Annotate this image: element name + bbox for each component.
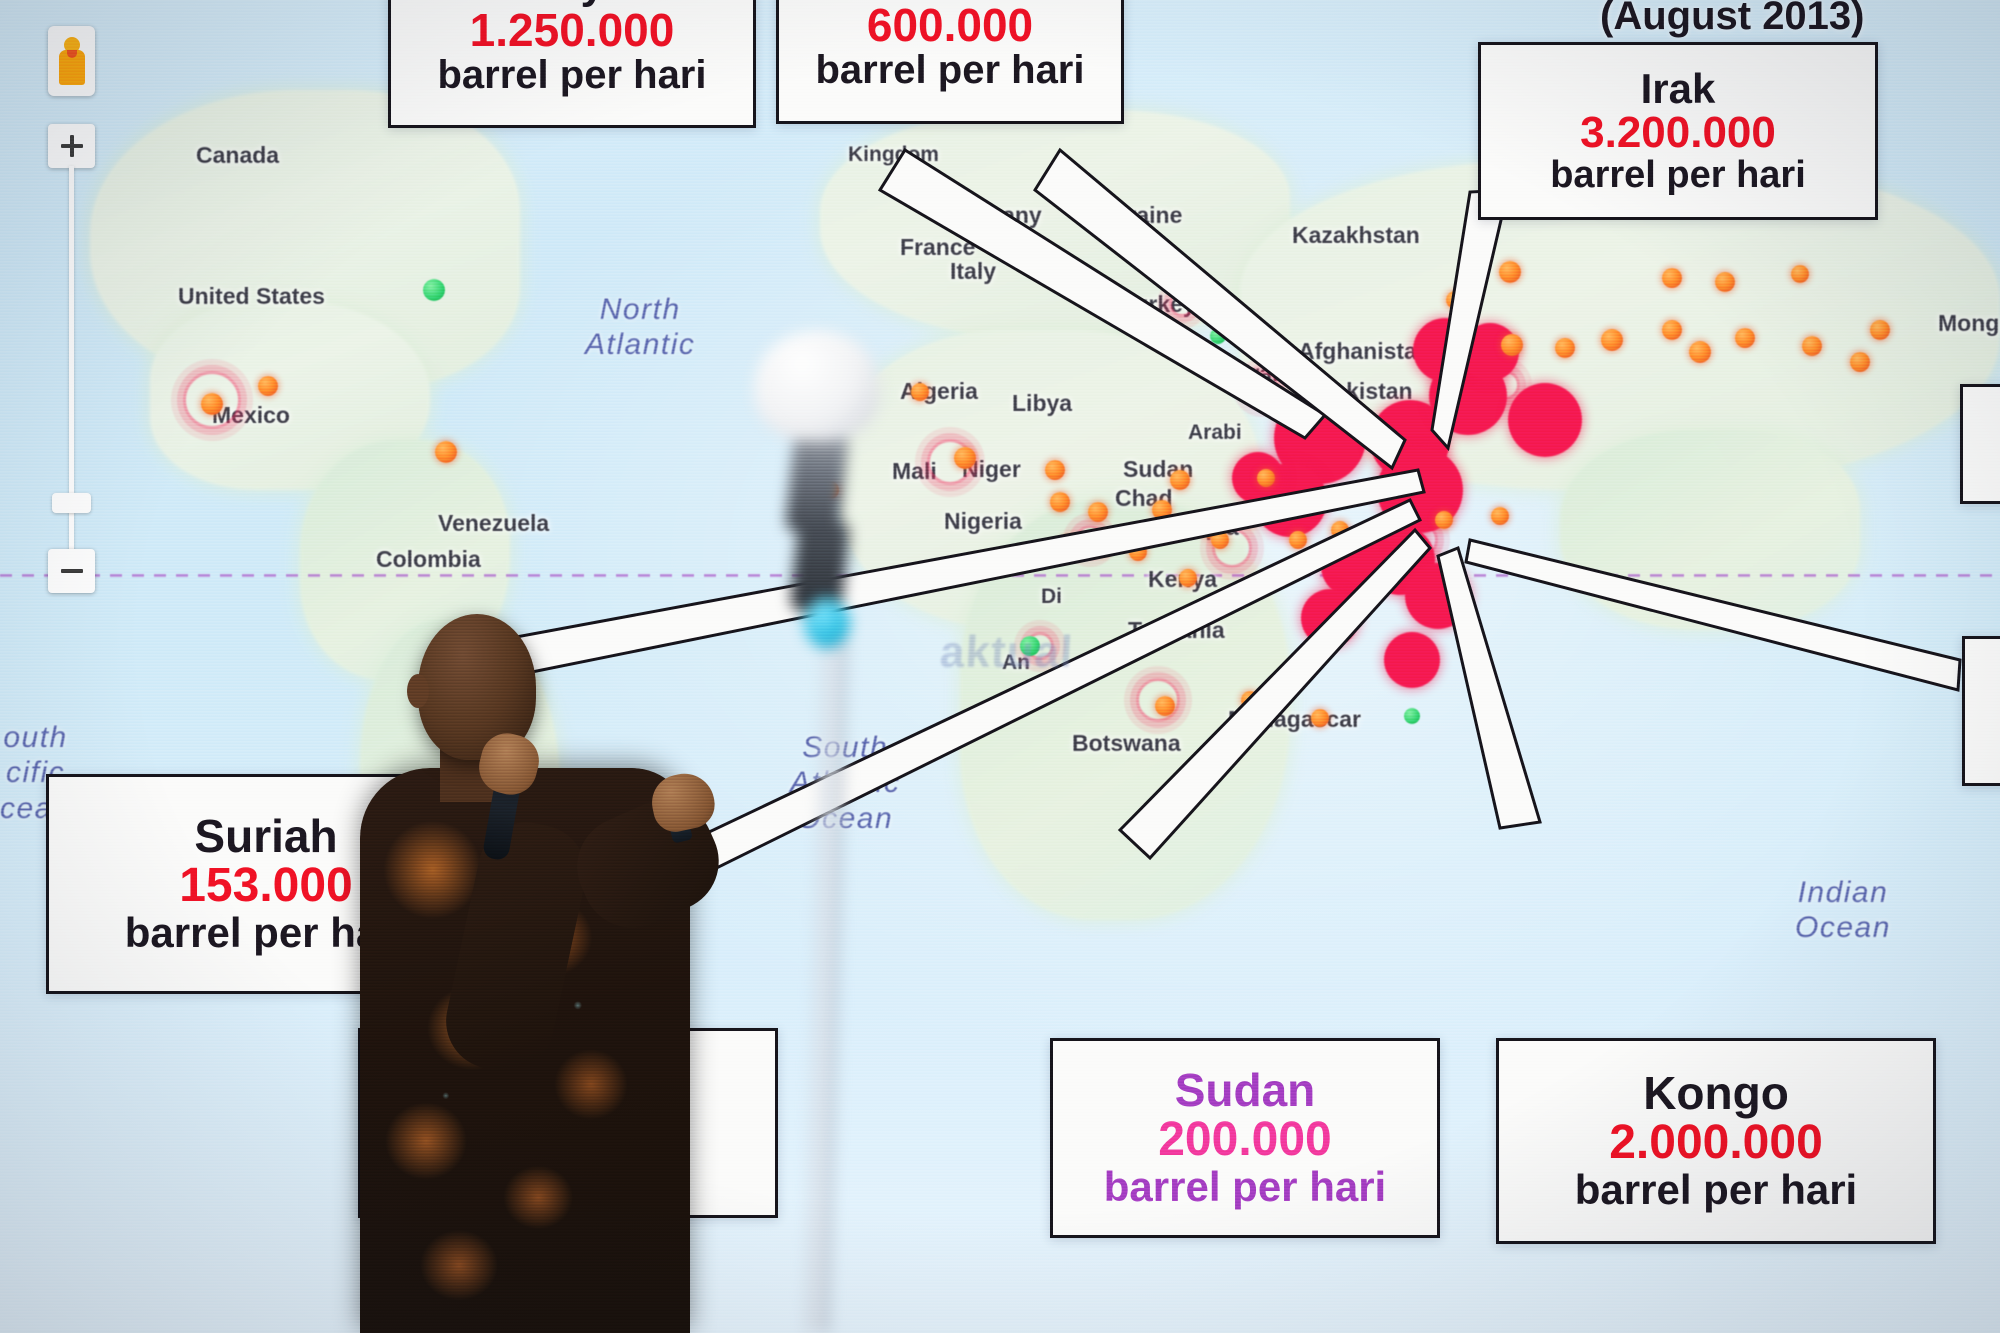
map-data-dot — [1152, 500, 1172, 520]
slide-title: (August 2013) — [1600, 0, 1865, 39]
map-data-dot — [1384, 632, 1440, 688]
map-data-dot — [435, 441, 457, 463]
map-label: United States — [178, 283, 325, 310]
watermark: aktual — [939, 628, 1075, 678]
callout-irak: Irak 3.200.000 barrel per hari — [1478, 42, 1878, 220]
map-data-dot — [1404, 708, 1420, 724]
callout-libya: Libya 1.250.000 barrel per hari — [388, 0, 756, 128]
map-data-dot — [258, 376, 278, 396]
map-label: France — [900, 234, 975, 261]
map-data-dot — [1170, 470, 1190, 490]
map-data-dot — [1210, 328, 1226, 344]
map-data-dot — [1405, 563, 1471, 629]
callout-mesir-value: 600.000 — [867, 2, 1033, 50]
map-label: Kingdom — [848, 143, 939, 167]
map-label: Kazakhstan — [1292, 222, 1420, 249]
map-data-dot — [1601, 329, 1623, 351]
zoom-out-button[interactable] — [48, 549, 95, 593]
map-data-dot — [1850, 352, 1870, 372]
map-dot-ripple — [1245, 371, 1279, 405]
map-dot-ripple — [1169, 291, 1195, 317]
callout-edge-right-lower — [1962, 636, 2000, 786]
map-data-dot — [1555, 338, 1575, 358]
map-data-dot — [1735, 328, 1755, 348]
map-data-dot — [1083, 529, 1101, 547]
map-data-dot — [201, 393, 223, 415]
map-data-dot — [1045, 460, 1065, 480]
callout-sudan-value: 200.000 — [1158, 1115, 1332, 1165]
callout-mesir-unit: barrel per hari — [815, 50, 1084, 92]
map-data-dot — [1446, 291, 1464, 309]
callout-libya-value: 1.250.000 — [470, 7, 675, 55]
callout-kongo: Kongo 2.000.000 barrel per hari — [1496, 1038, 1936, 1244]
map-label: N — [996, 705, 1011, 729]
map-data-dot — [1321, 535, 1383, 597]
map-data-dot — [1088, 502, 1108, 522]
callout-sudan: Sudan 200.000 barrel per hari — [1050, 1038, 1440, 1238]
map-data-dot — [1662, 320, 1682, 340]
callout-irak-value: 3.200.000 — [1580, 110, 1776, 156]
map-data-dot — [1491, 507, 1509, 525]
map-data-dot — [1715, 272, 1735, 292]
mic-stand-pole — [805, 630, 848, 1333]
map-data-dot — [1662, 268, 1682, 288]
callout-sudan-unit: barrel per hari — [1104, 1165, 1386, 1209]
map-label: Colombia — [376, 546, 481, 573]
map-data-dot — [1289, 531, 1307, 549]
callout-sudan-country: Sudan — [1175, 1067, 1316, 1115]
map-data-dot — [1870, 320, 1890, 340]
map-label: Botswana — [1072, 730, 1181, 757]
map-data-dot — [1311, 709, 1329, 727]
map-data-dot — [1061, 535, 1079, 553]
map-label: Afghanista — [1298, 338, 1417, 365]
speaker-ear — [407, 674, 429, 708]
map-label: Italy — [950, 258, 996, 285]
map-label: Canada — [196, 142, 279, 169]
map-data-dot — [1501, 334, 1523, 356]
foreground-microphone-stand — [730, 330, 910, 1333]
map-data-dot — [1155, 696, 1175, 716]
callout-kongo-value: 2.000.000 — [1609, 1118, 1823, 1168]
map-data-dot — [954, 447, 976, 469]
map-data-dot — [1050, 492, 1070, 512]
map-data-dot — [1802, 336, 1822, 356]
map-label: Germany — [942, 202, 1042, 229]
map-label: Di — [1041, 585, 1062, 609]
zoom-in-button[interactable] — [48, 124, 95, 168]
ocean-label: Indian Ocean — [1795, 875, 1891, 946]
callout-suriah-value: 153.000 — [179, 861, 353, 911]
map-data-dot — [1791, 265, 1809, 283]
map-data-dot — [1508, 383, 1582, 457]
callout-edge-right — [1960, 384, 2000, 504]
map-data-dot — [423, 279, 445, 301]
map-data-dot — [1331, 521, 1349, 539]
map-label: Tanzania — [1128, 617, 1225, 644]
map-data-dot — [1241, 691, 1259, 709]
callout-mesir: Mesir 600.000 barrel per hari — [776, 0, 1124, 124]
callout-kongo-unit: barrel per hari — [1575, 1168, 1857, 1212]
map-label: Nigeria — [944, 508, 1022, 535]
map-data-dot — [911, 383, 929, 401]
map-data-dot — [1211, 531, 1229, 549]
speaker-person — [352, 592, 762, 1333]
map-label: Ukraine — [1098, 202, 1182, 229]
callout-kongo-country: Kongo — [1643, 1070, 1789, 1118]
street-view-pegman-icon[interactable] — [48, 26, 95, 96]
map-data-dot — [1179, 569, 1197, 587]
map-data-dot — [1238, 506, 1258, 526]
callout-irak-unit: barrel per hari — [1550, 156, 1806, 196]
callout-irak-country: Irak — [1641, 67, 1716, 111]
zoom-slider-thumb[interactable] — [52, 493, 91, 513]
map-label: Madagascar — [1228, 706, 1361, 733]
map-label: Arabi — [1188, 421, 1242, 445]
map-data-dot — [1435, 511, 1453, 529]
presentation-photo: CanadaUnited StatesMexicoVenezuelaColomb… — [0, 0, 2000, 1333]
map-data-dot — [1129, 543, 1147, 561]
map-label: Venezuela — [438, 510, 549, 537]
map-label: Libya — [1012, 390, 1072, 417]
mic-stand-blue-detail — [804, 598, 850, 648]
map-data-dot — [1257, 469, 1275, 487]
equator-line — [0, 574, 2000, 577]
map-label: Mong — [1938, 310, 1999, 337]
mic-windscreen — [754, 330, 880, 442]
callout-libya-unit: barrel per hari — [437, 55, 706, 97]
map-data-dot — [1301, 589, 1359, 647]
ocean-label: North Atlantic — [585, 292, 695, 363]
map-data-dot — [1689, 341, 1711, 363]
map-data-dot — [1499, 261, 1521, 283]
callout-suriah-country: Suriah — [194, 813, 337, 861]
